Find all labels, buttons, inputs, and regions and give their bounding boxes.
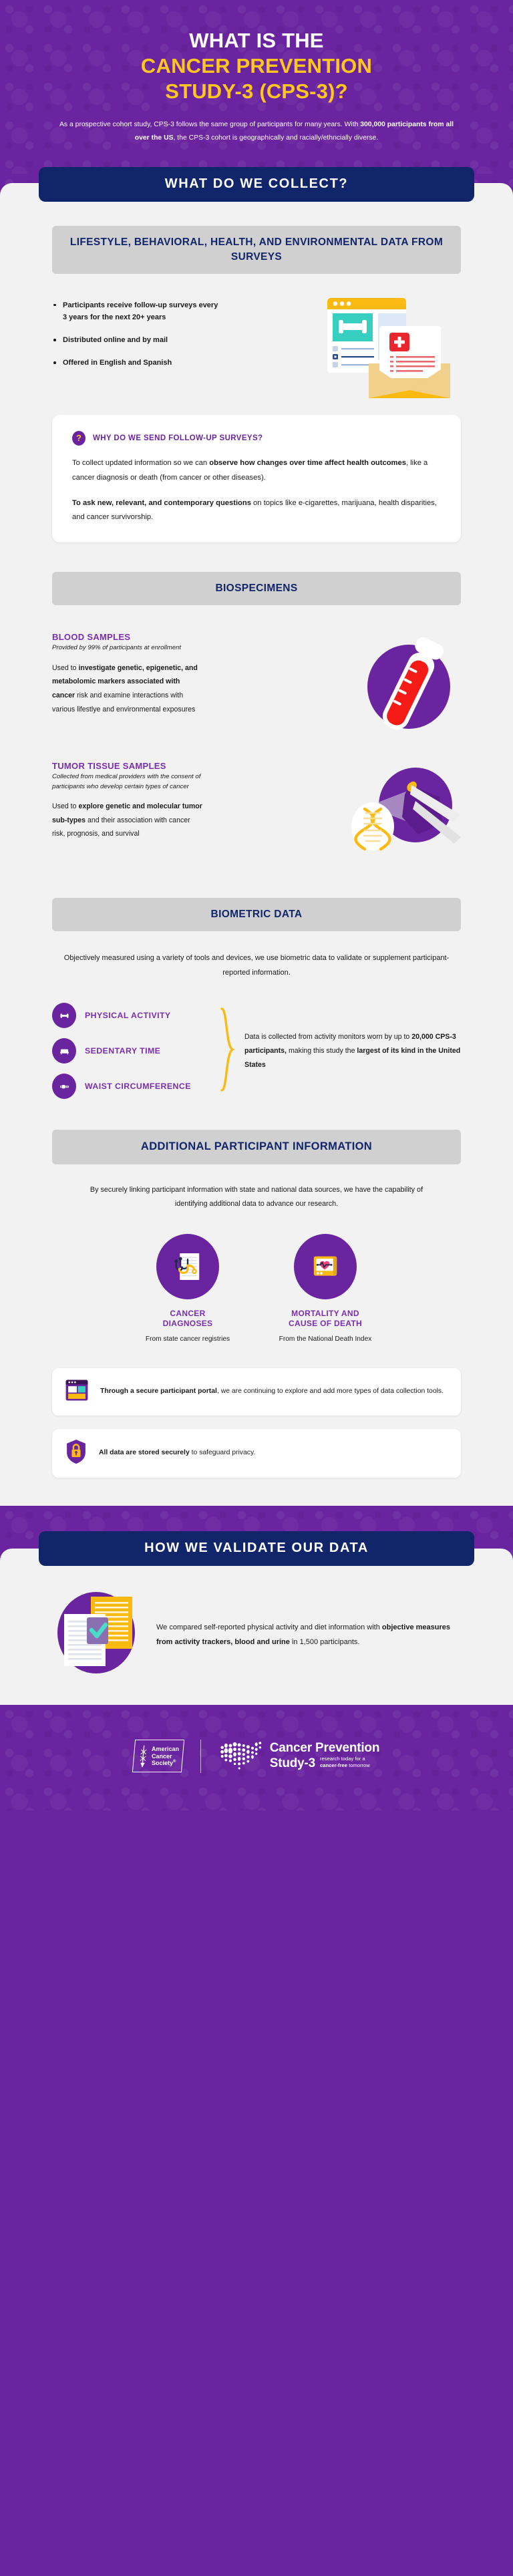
- additional-card-title: MORTALITY AND CAUSE OF DEATH: [275, 1309, 375, 1329]
- tape-measure-glyph: [59, 1081, 70, 1092]
- card-title-line1: MORTALITY AND: [291, 1309, 359, 1318]
- tagline-line2: cancer-free tomorrow: [320, 1762, 370, 1769]
- cps3-wordmark: Cancer Prevention Study-3 research today…: [270, 1742, 380, 1770]
- additional-card-cancer-diagnoses: CANCER DIAGNOSES From state cancer regis…: [138, 1234, 238, 1343]
- tape-measure-icon: [52, 1074, 76, 1099]
- card-title-line2: CAUSE OF DEATH: [289, 1319, 362, 1328]
- dumbbell-icon: [52, 1003, 76, 1028]
- list-item: Offered in English and Spanish: [52, 357, 219, 369]
- hero-content: WHAT IS THE CANCER PREVENTION STUDY-3 (C…: [0, 0, 513, 174]
- browser-window-glyph: [64, 1378, 90, 1403]
- tumor-tissue-title: TUMOR TISSUE SAMPLES: [52, 761, 341, 771]
- why-follow-up-callout: ? WHY DO WE SEND FOLLOW-UP SURVEYS? To c…: [52, 415, 461, 542]
- acs-registered-icon: ®: [173, 1760, 176, 1764]
- subsection-heading-surveys: LIFESTYLE, BEHAVIORAL, HEALTH, AND ENVIR…: [52, 226, 461, 274]
- tumor-tissue-body: Used to explore genetic and molecular tu…: [52, 800, 202, 841]
- tagline-rest: tomorrow: [347, 1762, 370, 1768]
- biometric-label: PHYSICAL ACTIVITY: [85, 1011, 171, 1020]
- blood-vial-icon: [347, 635, 461, 735]
- card-title-line2: DIAGNOSES: [163, 1319, 213, 1328]
- cps-title-line1: Cancer Prevention: [270, 1742, 380, 1756]
- shield-lock-glyph: [64, 1438, 88, 1465]
- shield-lock-icon: [64, 1438, 88, 1468]
- stethoscope-chart-glyph: [168, 1247, 207, 1286]
- portal-card-text: Through a secure participant portal, we …: [100, 1386, 444, 1398]
- callout-header: ? WHY DO WE SEND FOLLOW-UP SURVEYS?: [72, 431, 441, 446]
- documents-check-icon: [52, 1589, 146, 1679]
- list-item: Participants receive follow-up surveys e…: [52, 299, 219, 323]
- validate-section-wrapper: HOW WE VALIDATE OUR DATA: [0, 1506, 513, 1705]
- callout-paragraph-1: To collect updated information so we can…: [72, 456, 441, 486]
- collect-panel: WHAT DO WE COLLECT? LIFESTYLE, BEHAVIORA…: [0, 183, 513, 1506]
- gold-brace-icon: [219, 1006, 235, 1096]
- collect-section-wrapper: WHAT DO WE COLLECT? LIFESTYLE, BEHAVIORA…: [0, 174, 513, 1506]
- additional-card-mortality: MORTALITY AND CAUSE OF DEATH From the Na…: [275, 1234, 375, 1343]
- brace-glyph: [219, 1006, 235, 1093]
- hero-section: WHAT IS THE CANCER PREVENTION STUDY-3 (C…: [0, 0, 513, 174]
- blood-body-part1: Used to: [52, 664, 78, 672]
- additional-intro: By securely linking participant informat…: [80, 1183, 433, 1211]
- browser-window-icon: [64, 1378, 90, 1406]
- american-cancer-society-logo: American Cancer Society®: [132, 1740, 184, 1772]
- intro-part-1: As a prospective cohort study, CPS-3 fol…: [59, 121, 360, 128]
- title-line-2: CANCER PREVENTION: [31, 53, 482, 79]
- tagline-line1: research today for a: [320, 1756, 370, 1762]
- blood-samples-body: Used to investigate genetic, epigenetic,…: [52, 661, 202, 717]
- documents-check-illustration: [52, 1589, 146, 1682]
- list-item: Distributed online and by mail: [52, 334, 219, 346]
- acs-line-3: Society: [152, 1760, 173, 1766]
- security-info-card: All data are stored securely to safeguar…: [52, 1429, 461, 1478]
- dumbbell-glyph: [59, 1010, 70, 1021]
- stethoscope-chart-icon: [156, 1234, 219, 1299]
- validate-text-part2: in 1,500 participants.: [290, 1638, 360, 1646]
- security-card-bold: All data are stored securely: [99, 1449, 190, 1456]
- heart-monitor-icon: [294, 1234, 357, 1299]
- portal-info-card: Through a secure participant portal, we …: [52, 1368, 461, 1416]
- footer-logos: American Cancer Society®: [0, 1740, 513, 1773]
- biometric-item-sedentary-time: SEDENTARY TIME: [52, 1038, 219, 1064]
- subsection-heading-biometric: BIOMETRIC DATA: [52, 898, 461, 931]
- portal-card-bold: Through a secure participant portal: [100, 1388, 217, 1395]
- validate-text-part1: We compared self-reported physical activ…: [156, 1623, 382, 1631]
- subsection-heading-biospecimens: BIOSPECIMENS: [52, 572, 461, 605]
- acs-line-1: American: [152, 1746, 179, 1753]
- sofa-icon: [52, 1038, 76, 1064]
- tumor-dna-illustration: [341, 765, 461, 868]
- additional-card-title: CANCER DIAGNOSES: [138, 1309, 238, 1329]
- survey-envelope-icon: [321, 291, 461, 401]
- acs-line-3-row: Society®: [152, 1760, 179, 1767]
- callout-p1-bold: observe how changes over time affect hea…: [209, 459, 406, 467]
- footer-divider: [200, 1740, 201, 1773]
- card-title-line1: CANCER: [170, 1309, 205, 1318]
- biometric-item-waist-circumference: WAIST CIRCUMFERENCE: [52, 1074, 219, 1099]
- biometric-intro: Objectively measured using a variety of …: [52, 951, 461, 980]
- tumor-tissue-subtitle: Collected from medical providers with th…: [52, 772, 206, 792]
- acs-caduceus-icon: [138, 1743, 148, 1770]
- title-line-1: WHAT IS THE: [31, 28, 482, 53]
- security-card-rest: to safeguard privacy.: [190, 1449, 256, 1456]
- section-title-how-we-validate: HOW WE VALIDATE OUR DATA: [39, 1531, 474, 1566]
- footer-section: American Cancer Society®: [0, 1705, 513, 1810]
- biometric-item-list: PHYSICAL ACTIVITY SEDENTAR: [52, 1003, 219, 1099]
- usa-dot-map-icon: [218, 1740, 264, 1773]
- survey-bullet-list: Participants receive follow-up surveys e…: [52, 297, 321, 380]
- heart-monitor-glyph: [306, 1247, 345, 1286]
- biometric-note: Data is collected from activity monitors…: [235, 1030, 461, 1072]
- blood-samples-subtitle: Provided by 99% of participants at enrol…: [52, 643, 347, 653]
- cps3-logo: Cancer Prevention Study-3 research today…: [218, 1740, 380, 1773]
- blood-vial-illustration: [347, 635, 461, 738]
- subsection-heading-additional: ADDITIONAL PARTICIPANT INFORMATION: [52, 1130, 461, 1164]
- additional-card-subtitle: From the National Death Index: [275, 1335, 375, 1343]
- callout-p2-bold: To ask new, relevant, and contemporary q…: [72, 499, 251, 507]
- biometric-item-physical-activity: PHYSICAL ACTIVITY: [52, 1003, 219, 1028]
- question-mark-icon: ?: [72, 431, 85, 446]
- additional-card-subtitle: From state cancer registries: [138, 1335, 238, 1343]
- cps-tagline: research today for a cancer-free tomorro…: [320, 1756, 370, 1770]
- validate-panel: HOW WE VALIDATE OUR DATA: [0, 1549, 513, 1705]
- biometric-label: SEDENTARY TIME: [85, 1046, 160, 1056]
- tumor-tissue-dna-icon: [341, 765, 461, 865]
- callout-p1-part1: To collect updated information so we can: [72, 459, 209, 467]
- blood-samples-title: BLOOD SAMPLES: [52, 632, 347, 642]
- page-title: WHAT IS THE CANCER PREVENTION STUDY-3 (C…: [31, 28, 482, 104]
- hero-intro-paragraph: As a prospective cohort study, CPS-3 fol…: [56, 118, 457, 144]
- title-line-3: STUDY-3 (CPS-3)?: [31, 79, 482, 104]
- biometric-label: WAIST CIRCUMFERENCE: [85, 1082, 191, 1091]
- acs-line-2: Cancer: [152, 1753, 179, 1760]
- security-card-text: All data are stored securely to safeguar…: [99, 1447, 255, 1459]
- tumor-body-part1: Used to: [52, 802, 78, 810]
- bio-note-part2: making this study the: [287, 1047, 357, 1055]
- sofa-glyph: [59, 1045, 70, 1057]
- portal-card-rest: , we are continuing to explore and add m…: [217, 1388, 444, 1395]
- validate-text: We compared self-reported physical activ…: [156, 1621, 461, 1649]
- cps-title-line2: Study-3: [270, 1757, 315, 1771]
- tagline-bold: cancer-free: [320, 1762, 347, 1768]
- acs-wordmark: American Cancer Society®: [152, 1746, 179, 1767]
- callout-paragraph-2: To ask new, relevant, and contemporary q…: [72, 496, 441, 526]
- section-title-what-do-we-collect: WHAT DO WE COLLECT?: [39, 167, 474, 202]
- intro-part-2: , the CPS-3 cohort is geographically and…: [174, 134, 379, 142]
- bio-note-part1: Data is collected from activity monitors…: [244, 1033, 411, 1041]
- survey-envelope-illustration: [321, 291, 461, 401]
- callout-title: WHY DO WE SEND FOLLOW-UP SURVEYS?: [93, 434, 263, 442]
